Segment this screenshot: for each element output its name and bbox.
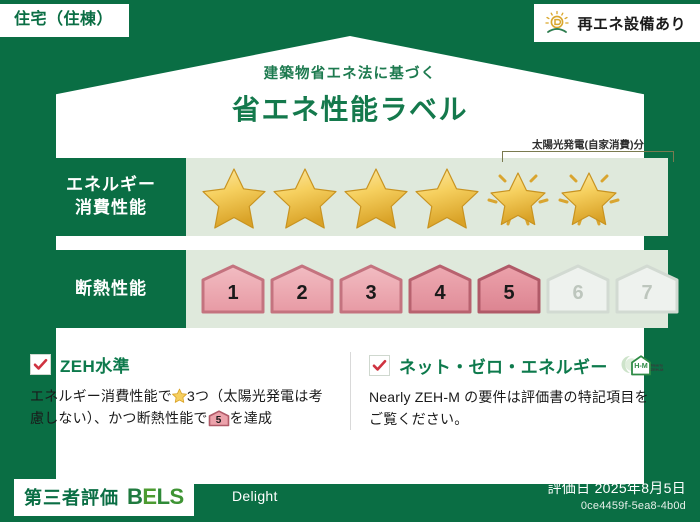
energy-performance-label: エネルギー 消費性能 bbox=[36, 158, 186, 236]
sun-solar-icon bbox=[544, 10, 570, 36]
insulation-label-text: 断熱性能 bbox=[75, 278, 147, 301]
energy-label-line2: 消費性能 bbox=[75, 197, 147, 220]
solar-annotation-text: 太陽光発電(自家消費)分 bbox=[502, 137, 674, 152]
insulation-level-2: 2 bbox=[269, 263, 335, 315]
zeh-standard-block: ZEH水準 エネルギー消費性能で3つ（太陽光発電は考慮しない）、かつ断熱性能で5… bbox=[30, 352, 350, 430]
insulation-badge-number: 5 bbox=[208, 413, 230, 429]
star-solar bbox=[555, 164, 623, 230]
title-main: 省エネ性能ラベル bbox=[0, 88, 700, 128]
title-subtitle: 建築物省エネ法に基づく bbox=[0, 62, 700, 83]
star-solar bbox=[484, 164, 552, 230]
star-filled bbox=[342, 164, 410, 230]
star-icon bbox=[172, 387, 187, 402]
energy-performance-row: エネルギー 消費性能 太陽光発電(自家消費)分 bbox=[36, 158, 668, 236]
insulation-level-1: 1 bbox=[200, 263, 266, 315]
insulation-performance-row: 断熱性能 1 bbox=[36, 250, 668, 328]
star-rating bbox=[200, 164, 623, 230]
star-filled bbox=[271, 164, 339, 230]
renewable-badge-label: 再エネ設備あり bbox=[577, 13, 686, 34]
title-block: 建築物省エネ法に基づく 省エネ性能ラベル bbox=[0, 62, 700, 128]
insulation-performance-label: 断熱性能 bbox=[36, 250, 186, 328]
insulation-badge-inline: 5 bbox=[208, 410, 230, 427]
insulation-level-3: 3 bbox=[338, 263, 404, 315]
solar-bracket bbox=[502, 151, 674, 162]
insulation-level-scale: 1 2 3 bbox=[200, 263, 680, 315]
energy-label-line1: エネルギー bbox=[66, 174, 156, 197]
net-zero-energy-block: ネット・ゼロ・エネルギー H-M Nearly ZEH-M Nearly ZEH… bbox=[350, 352, 670, 430]
check-icon bbox=[30, 354, 51, 375]
evaluation-date: 評価日 2025年8月5日 bbox=[547, 478, 686, 498]
zeh-standard-title: ZEH水準 bbox=[60, 352, 130, 377]
housing-type-label: 住宅（住棟） bbox=[14, 11, 113, 28]
insulation-level-7: 7 bbox=[614, 263, 680, 315]
insulation-level-4: 4 bbox=[407, 263, 473, 315]
bels-letter-e: E bbox=[142, 484, 156, 509]
net-zero-header: ネット・ゼロ・エネルギー H-M Nearly ZEH-M bbox=[369, 352, 652, 378]
zeh-standard-header: ZEH水準 bbox=[30, 352, 332, 377]
check-icon bbox=[369, 355, 390, 376]
insulation-rating-body: 1 2 3 bbox=[186, 250, 680, 328]
bels-jp-label: 第三者評価 bbox=[24, 484, 119, 510]
bels-energy-label: 住宅（住棟） 再エネ設備あり 建築物省エネ法に基づく bbox=[0, 0, 700, 522]
net-zero-description: Nearly ZEH-M の要件は評価書の特記項目をご覧ください。 bbox=[369, 386, 652, 430]
bels-letter-s: S bbox=[170, 484, 184, 509]
zeh-standard-description: エネルギー消費性能で3つ（太陽光発電は考慮しない）、かつ断熱性能で5を達成 bbox=[30, 385, 332, 429]
energy-rating-body: 太陽光発電(自家消費)分 bbox=[186, 158, 668, 236]
bels-letter-b: B bbox=[127, 484, 142, 509]
zeh-desc-part1: エネルギー消費性能で bbox=[30, 388, 172, 404]
rating-rows: エネルギー 消費性能 太陽光発電(自家消費)分 bbox=[36, 158, 668, 328]
company-name: Delight bbox=[232, 488, 278, 504]
bels-certification-badge: 第三者評価 BELS bbox=[14, 479, 194, 516]
insulation-level-6: 6 bbox=[545, 263, 611, 315]
insulation-level-5: 5 bbox=[476, 263, 542, 315]
footer-bar: 第三者評価 BELS Delight 評価日 2025年8月5日 0ce4459… bbox=[0, 470, 700, 522]
net-zero-title: ネット・ゼロ・エネルギー bbox=[399, 353, 608, 378]
bels-letter-l: L bbox=[157, 484, 170, 509]
renewable-equipment-badge: 再エネ設備あり bbox=[534, 4, 700, 42]
footer-meta: 評価日 2025年8月5日 0ce4459f-5ea8-4b0d bbox=[547, 478, 686, 512]
svg-text:H-M: H-M bbox=[634, 361, 648, 370]
zeh-desc-part3: を達成 bbox=[230, 410, 273, 426]
star-filled bbox=[413, 164, 481, 230]
star-filled bbox=[200, 164, 268, 230]
certificate-id: 0ce4459f-5ea8-4b0d bbox=[547, 500, 686, 512]
bels-logo: BELS bbox=[127, 484, 184, 510]
svg-text:ZEH-M: ZEH-M bbox=[650, 367, 663, 372]
zeh-m-logo-icon: H-M Nearly ZEH-M bbox=[617, 352, 665, 378]
feature-blocks: ZEH水準 エネルギー消費性能で3つ（太陽光発電は考慮しない）、かつ断熱性能で5… bbox=[30, 352, 670, 430]
housing-type-tag: 住宅（住棟） bbox=[0, 4, 129, 37]
